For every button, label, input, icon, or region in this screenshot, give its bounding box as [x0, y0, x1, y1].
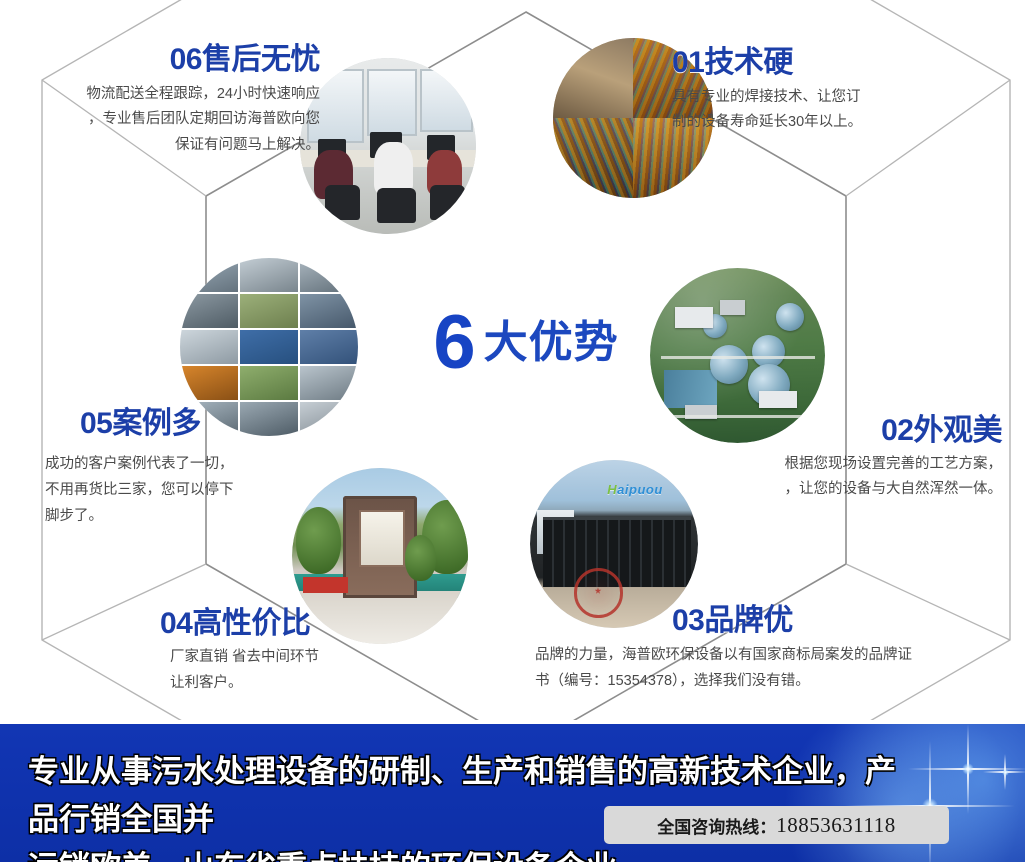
advantage-block-04: 04高性价比	[160, 608, 460, 640]
advantage-heading-02: 02外观美	[620, 415, 1002, 447]
advantage-block-05: 05案例多	[80, 408, 340, 440]
advantage-heading-05: 05案例多	[80, 408, 340, 440]
hotline-box[interactable]: 全国咨询热线：18853631118	[604, 806, 949, 844]
infographic-root: Haipuou	[0, 0, 1025, 862]
banner-line-2: 远销欧美，山东省重点扶持的环保设备企业。	[28, 844, 908, 862]
hotline-number: 18853631118	[776, 813, 895, 838]
center-badge: 6 大优势	[401, 295, 651, 390]
advantage-desc-wrap-04: 厂家直销 省去中间环节 让利客户。	[170, 645, 470, 697]
office-team-photo	[300, 58, 476, 234]
advantage-desc-wrap-05: 成功的客户案例代表了一切， 不用再货比三家，您可以停下 脚步了。	[45, 452, 345, 529]
advantage-block-02: 02外观美 根据您现场设置完善的工艺方案， ，让您的设备与大自然浑然一体。	[620, 415, 1002, 503]
advantage-heading-06: 06售后无忧	[10, 44, 320, 76]
banner-text: 专业从事污水处理设备的研制、生产和销售的高新技术企业，产品行销全国并 远销欧美，…	[28, 748, 908, 862]
advantage-desc-03: 品牌的力量，海普欧环保设备以有国家商标局案发的品牌证 书（编号：15354378…	[535, 643, 1005, 695]
advantage-block-01: 01技术硬 具有专业的焊接技术、让您订 制的设备寿命延长30年以上。	[672, 47, 1002, 136]
advantage-desc-02: 根据您现场设置完善的工艺方案， ，让您的设备与大自然浑然一体。	[620, 452, 1002, 504]
advantage-block-06: 06售后无忧 物流配送全程跟踪，24小时快速响应 ，专业售后团队定期回访海普欧向…	[10, 44, 320, 159]
advantage-heading-01: 01技术硬	[672, 47, 1002, 79]
center-number: 6	[433, 305, 473, 381]
advantage-desc-wrap-03: 品牌的力量，海普欧环保设备以有国家商标局案发的品牌证 书（编号：15354378…	[535, 643, 1005, 695]
advantage-desc-05: 成功的客户案例代表了一切， 不用再货比三家，您可以停下 脚步了。	[45, 452, 345, 529]
advantage-block-03: 03品牌优	[672, 605, 1022, 637]
advantage-desc-01: 具有专业的焊接技术、让您订 制的设备寿命延长30年以上。	[672, 85, 1002, 137]
center-label: 大优势	[484, 321, 619, 365]
trademark-stamp-icon	[574, 568, 624, 618]
hotline-label: 全国咨询热线：	[657, 813, 776, 838]
advantage-heading-03: 03品牌优	[672, 605, 1022, 637]
advantage-desc-06: 物流配送全程跟踪，24小时快速响应 ，专业售后团队定期回访海普欧向您 保证有问题…	[10, 82, 320, 159]
advantage-desc-04: 厂家直销 省去中间环节 让利客户。	[170, 645, 470, 697]
advantage-heading-04: 04高性价比	[160, 608, 460, 640]
